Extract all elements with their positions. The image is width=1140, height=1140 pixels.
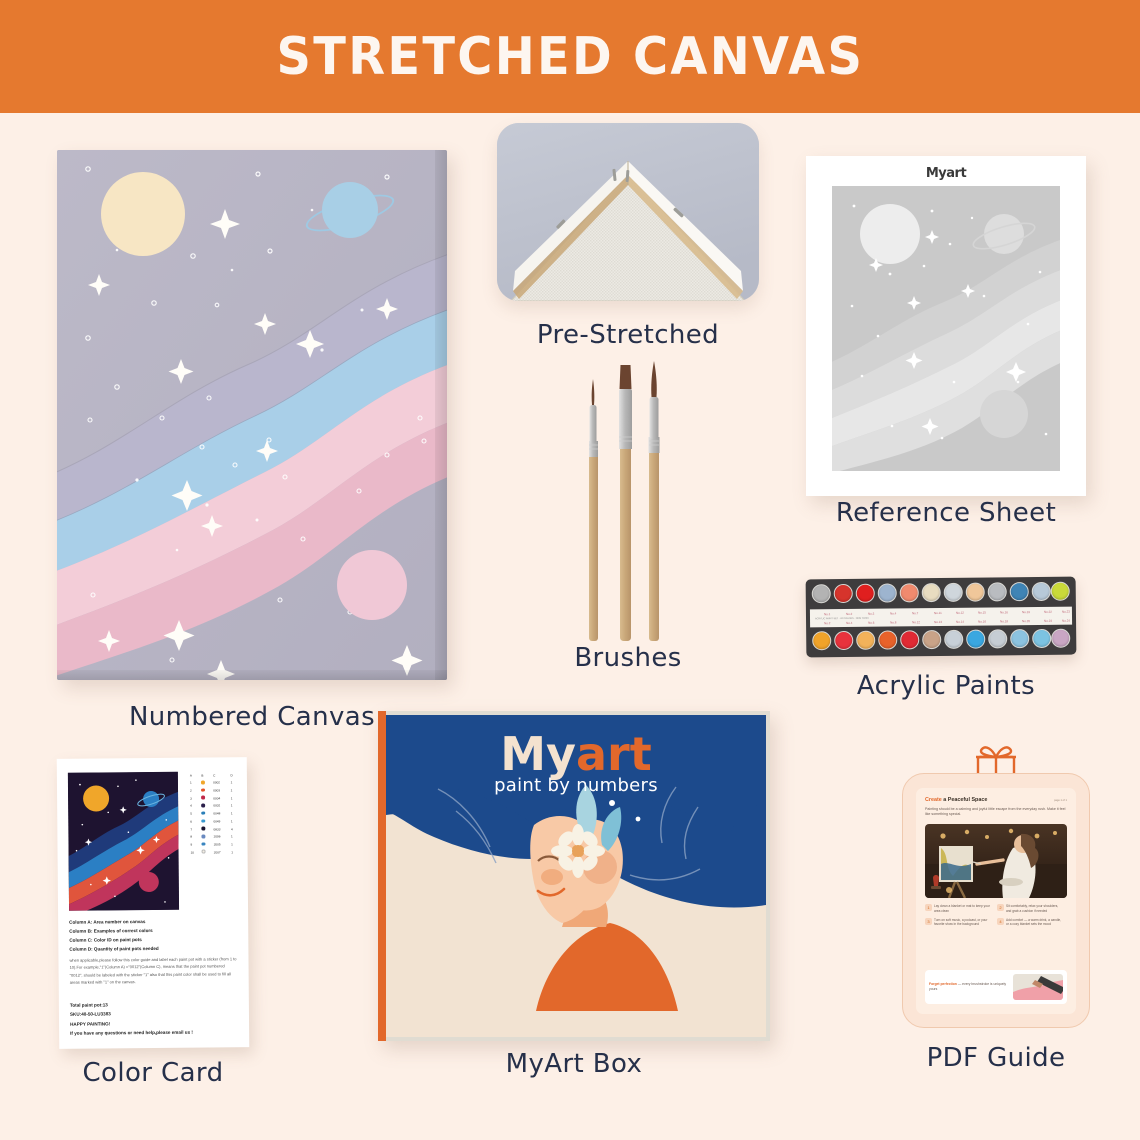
brush-round-pointed xyxy=(649,361,660,641)
pdf-heading-rest: a Peaceful Space xyxy=(942,797,988,803)
pdf-photo-painting-woman xyxy=(925,824,1067,898)
pdf-page-note: page 1 of 1 xyxy=(1054,799,1067,802)
paint-pot[interactable] xyxy=(944,630,963,649)
svg-text:No.12: No.12 xyxy=(956,611,964,615)
page-header: STRETCHED CANVAS xyxy=(0,0,1140,113)
color-card-space-art xyxy=(68,772,179,911)
svg-text:No.23: No.23 xyxy=(1044,619,1052,623)
paint-pot[interactable] xyxy=(1051,629,1070,648)
color-swatch xyxy=(202,834,206,838)
product-numbered-canvas[interactable]: Numbered Canvas xyxy=(57,150,447,680)
paint-pot[interactable] xyxy=(834,631,853,650)
paint-pot[interactable] xyxy=(856,631,875,650)
callout-accent: Forget perfection xyxy=(929,982,957,986)
pdf-tip: 2 Sit comfortably, relax your shoulders,… xyxy=(997,904,1063,914)
paint-pot[interactable] xyxy=(1032,582,1051,601)
svg-text:No.2: No.2 xyxy=(846,612,853,616)
col-header-d: D xyxy=(229,773,236,778)
tip-text: Add comfort — a warm drink, a candle, or… xyxy=(1006,918,1063,928)
box-side-edge xyxy=(378,711,386,1041)
paint-pot[interactable] xyxy=(834,584,853,603)
svg-text:No.12: No.12 xyxy=(912,620,920,624)
table-row: 200031 xyxy=(189,788,237,794)
page-title: STRETCHED CANVAS xyxy=(276,27,864,87)
svg-text:No.15: No.15 xyxy=(978,611,986,615)
product-brushes[interactable]: Brushes xyxy=(497,353,759,683)
paint-pot[interactable] xyxy=(812,631,831,650)
caption-acrylic-paints: Acrylic Paints xyxy=(806,671,1086,701)
tip-text: Turn on soft music, a podcast, or your f… xyxy=(934,918,991,928)
contact-line: If you have any questions or need help,p… xyxy=(70,1028,238,1038)
brush-flat xyxy=(619,365,632,641)
canvas-sun xyxy=(101,172,185,256)
paint-pot[interactable] xyxy=(1010,582,1029,601)
pdf-heading: Create a Peaceful Space xyxy=(925,797,987,803)
pdf-tip: 3 Turn on soft music, a podcast, or your… xyxy=(925,918,991,928)
box-subtitle: paint by numbers xyxy=(386,775,766,796)
pdf-intro: Painting should be a calming and joyful … xyxy=(925,807,1067,818)
canvas-right-edge xyxy=(435,150,447,680)
paint-pot[interactable] xyxy=(812,584,831,603)
table-row: 600491 xyxy=(189,819,237,825)
color-swatch xyxy=(202,842,206,846)
box-logo-art: art xyxy=(576,727,652,781)
color-card-paper: A B C D 100021 200031 300041 400021 5004… xyxy=(57,757,250,1049)
paint-label-strip: No.1No.2No.3 No.4No.7No.11 No.12No.15No.… xyxy=(810,607,1072,628)
brush-stroke-photo xyxy=(1013,974,1063,1000)
svg-text:No.6: No.6 xyxy=(868,621,875,625)
color-card-legend: Column A: Area number on canvas Column B… xyxy=(69,917,237,954)
color-card-instructions: when applicable,please follow this color… xyxy=(69,955,237,986)
product-acrylic-paints[interactable]: No.1No.2No.3 No.4No.7No.11 No.12No.15No.… xyxy=(806,553,1086,683)
pre-stretched-photo xyxy=(497,123,759,301)
product-color-card[interactable]: A B C D 100021 200031 300041 400021 5004… xyxy=(58,758,248,1048)
box-body: Myart paint by numbers xyxy=(378,711,770,1041)
svg-text:No.23: No.23 xyxy=(1062,610,1070,614)
canvas-pink-moon xyxy=(337,550,407,620)
svg-text:No.20: No.20 xyxy=(1022,619,1030,623)
svg-text:No.3: No.3 xyxy=(868,612,875,616)
box-logo-my: My xyxy=(500,727,576,781)
canvas-bottom-edge xyxy=(57,670,447,680)
caption-reference-sheet: Reference Sheet xyxy=(806,498,1086,528)
paint-pot[interactable] xyxy=(856,584,875,603)
canvas-artwork xyxy=(57,150,447,680)
paint-pot[interactable] xyxy=(1051,582,1070,601)
pdf-sheet: Create a Peaceful Space page 1 of 1 Pain… xyxy=(916,788,1076,1014)
pdf-tablet-frame: Create a Peaceful Space page 1 of 1 Pain… xyxy=(902,773,1090,1028)
paint-pot[interactable] xyxy=(988,629,1007,648)
paint-pot[interactable] xyxy=(922,583,941,602)
brushes-illustration xyxy=(497,353,759,643)
paint-pot[interactable] xyxy=(900,630,919,649)
pdf-tips-grid: 1 Lay down a blanket or mat to keep your… xyxy=(925,904,1067,927)
table-row: 500481 xyxy=(189,811,237,817)
paint-pot[interactable] xyxy=(966,630,985,649)
color-card-artwork xyxy=(68,772,179,911)
svg-text:No.4: No.4 xyxy=(846,621,853,625)
tip-badge-icon: 1 xyxy=(925,904,932,911)
tip-badge-icon: 2 xyxy=(997,904,1004,911)
canvas-corner-photo xyxy=(497,123,759,301)
caption-pre-stretched: Pre-Stretched xyxy=(497,320,759,350)
pdf-heading-row: Create a Peaceful Space page 1 of 1 xyxy=(925,797,1067,803)
table-row: 708334 xyxy=(189,826,237,832)
caption-pdf-guide: PDF Guide xyxy=(902,1043,1090,1073)
svg-text:No.4: No.4 xyxy=(890,611,897,615)
pdf-tip: 4 Add comfort — a warm drink, a candle, … xyxy=(997,918,1063,928)
svg-text:No.16: No.16 xyxy=(1000,610,1008,614)
svg-text:No.22: No.22 xyxy=(1044,610,1052,614)
pdf-photo xyxy=(925,824,1067,898)
reference-sheet-artwork xyxy=(832,186,1060,471)
table-row: 1020071 xyxy=(190,850,238,856)
svg-text:No.16: No.16 xyxy=(978,620,986,624)
legend-line: Column D: Quantity of paint pots needed xyxy=(69,944,237,954)
color-swatch xyxy=(202,804,206,808)
pdf-heading-accent: Create xyxy=(925,797,942,803)
sku: SKU:40-50-LU3383 xyxy=(70,1009,238,1019)
reference-sheet-paper: Myart xyxy=(806,156,1086,496)
caption-color-card: Color Card xyxy=(58,1058,248,1088)
svg-text:No.24: No.24 xyxy=(1062,619,1070,623)
col-header-a: A xyxy=(189,774,199,779)
pdf-callout: Forget perfection — every brushstroke is… xyxy=(925,970,1067,1004)
reference-greyscale-illustration xyxy=(832,186,1060,471)
table-header-row: A B C D xyxy=(189,773,237,779)
table-row: 920051 xyxy=(189,842,237,848)
brush-round-small xyxy=(589,379,598,641)
col-header-b: B xyxy=(200,773,210,778)
color-card-footer: HAPPY PAINTING! If you have any question… xyxy=(70,1019,238,1038)
svg-text:No.19: No.19 xyxy=(1022,610,1030,614)
tip-badge-icon: 3 xyxy=(925,918,932,925)
color-card-summary: Total paint pot:13 SKU:40-50-LU3383 xyxy=(70,1000,238,1019)
svg-text:No.2: No.2 xyxy=(824,621,831,625)
tip-text: Sit comfortably, relax your shoulders, a… xyxy=(1006,904,1063,914)
color-swatch xyxy=(202,819,206,823)
svg-text:No.7: No.7 xyxy=(912,611,919,615)
caption-brushes: Brushes xyxy=(497,643,759,673)
callout-image xyxy=(1013,974,1063,1000)
table-row: 300041 xyxy=(189,796,237,802)
paint-pots-bottom-row xyxy=(806,577,1076,580)
product-myart-box[interactable]: Myart paint by numbers MyArt Box xyxy=(378,711,770,1041)
color-swatch xyxy=(202,850,206,854)
paint-label-text: No.1No.2No.3 No.4No.7No.11 No.12No.15No.… xyxy=(810,607,1072,628)
svg-text:No.13: No.13 xyxy=(934,620,942,624)
table-row: 100021 xyxy=(189,780,237,786)
color-swatch xyxy=(201,788,205,792)
product-grid: Numbered Canvas xyxy=(0,113,1140,1140)
svg-text:No.1: No.1 xyxy=(824,612,831,616)
table-row: 400021 xyxy=(189,803,237,809)
color-swatch xyxy=(202,796,206,800)
paint-pot[interactable] xyxy=(922,630,941,649)
paint-pots-top-row xyxy=(806,577,1076,580)
color-swatch xyxy=(201,781,205,785)
paint-pot[interactable] xyxy=(1010,629,1029,648)
svg-text:No.18: No.18 xyxy=(1000,619,1008,623)
paint-pot[interactable] xyxy=(944,583,963,602)
svg-text:No.11: No.11 xyxy=(934,611,942,615)
box-logo: Myart xyxy=(386,727,766,781)
product-reference-sheet[interactable]: Myart xyxy=(806,123,1086,483)
paint-pot[interactable] xyxy=(1032,629,1051,648)
paint-pot[interactable] xyxy=(988,582,1007,601)
paint-tray: No.1No.2No.3 No.4No.7No.11 No.12No.15No.… xyxy=(806,577,1077,658)
svg-text:No.14: No.14 xyxy=(956,620,964,624)
canvas-planet xyxy=(322,182,378,238)
table-row: 820961 xyxy=(189,834,237,840)
paint-pot[interactable] xyxy=(878,630,897,649)
reference-sheet-logo: Myart xyxy=(806,166,1086,181)
paint-pot[interactable] xyxy=(878,583,897,602)
svg-text:ACRYLIC PAINT SET · 24 COLORS: ACRYLIC PAINT SET · 24 COLORS · NON TOXI… xyxy=(815,617,869,621)
svg-text:No.8: No.8 xyxy=(890,620,897,624)
paint-pot[interactable] xyxy=(900,583,919,602)
caption-myart-box: MyArt Box xyxy=(378,1049,770,1079)
color-swatch xyxy=(202,827,206,831)
color-card-table: A B C D 100021 200031 300041 400021 5004… xyxy=(187,771,240,857)
box-front-panel: Myart paint by numbers xyxy=(386,715,766,1037)
paint-pot[interactable] xyxy=(966,583,985,602)
pdf-tip: 1 Lay down a blanket or mat to keep your… xyxy=(925,904,991,914)
color-swatch xyxy=(202,811,206,815)
col-header-c: C xyxy=(212,773,227,778)
tip-badge-icon: 4 xyxy=(997,918,1004,925)
product-pdf-guide[interactable]: Create a Peaceful Space page 1 of 1 Pain… xyxy=(902,743,1090,1043)
tip-text: Lay down a blanket or mat to keep your a… xyxy=(934,904,991,914)
callout-text: Forget perfection — every brushstroke is… xyxy=(929,982,1009,992)
